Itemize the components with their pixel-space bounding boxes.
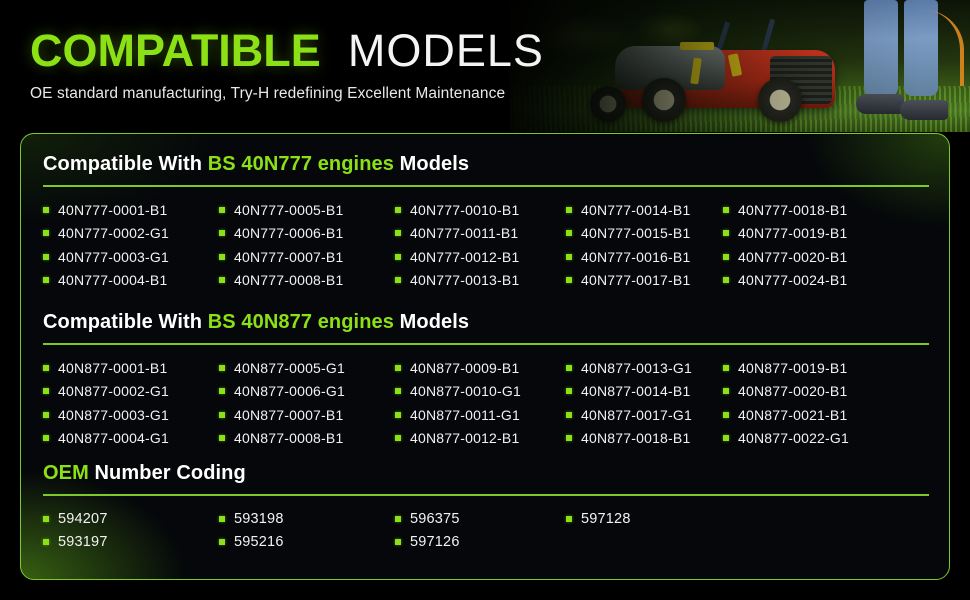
model-column: 40N777-0010-B1 40N777-0011-B1 40N777-001… bbox=[395, 198, 566, 292]
bullet-square-icon bbox=[395, 539, 401, 545]
list-item: 40N877-0014-B1 bbox=[566, 380, 723, 404]
model-column: 40N777-0018-B1 40N777-0019-B1 40N777-002… bbox=[723, 198, 898, 292]
bullet-square-icon bbox=[566, 412, 572, 418]
list-item: 40N777-0001-B1 bbox=[43, 198, 219, 222]
model-number: 40N877-0011-G1 bbox=[410, 407, 520, 423]
list-item: 40N777-0012-B1 bbox=[395, 245, 566, 269]
page-title-accent: COMPATIBLE bbox=[30, 25, 321, 76]
model-number: 40N777-0013-B1 bbox=[410, 272, 519, 288]
list-item: 40N877-0010-G1 bbox=[395, 380, 566, 404]
model-number: 40N877-0003-G1 bbox=[58, 407, 169, 423]
model-grid: 40N777-0001-B1 40N777-0002-G1 40N777-000… bbox=[43, 198, 929, 292]
bullet-square-icon bbox=[395, 365, 401, 371]
bullet-square-icon bbox=[566, 207, 572, 213]
hero-text-block: COMPATIBLE MODELS OE standard manufactur… bbox=[30, 28, 544, 103]
bullet-square-icon bbox=[723, 365, 729, 371]
section-divider bbox=[43, 494, 929, 496]
list-item: 593198 bbox=[219, 507, 395, 531]
bullet-square-icon bbox=[566, 230, 572, 236]
list-item: 40N877-0001-B1 bbox=[43, 356, 219, 380]
model-number: 40N777-0015-B1 bbox=[581, 225, 690, 241]
list-item: 593197 bbox=[43, 531, 219, 555]
bullet-square-icon bbox=[43, 254, 49, 260]
oem-column: 593198 595216 bbox=[219, 507, 395, 554]
section-heading-highlight: BS 40N877 engines bbox=[208, 311, 394, 333]
bullet-square-icon bbox=[43, 207, 49, 213]
bullet-square-icon bbox=[395, 412, 401, 418]
list-item: 40N877-0009-B1 bbox=[395, 356, 566, 380]
bullet-square-icon bbox=[219, 539, 225, 545]
list-item: 40N877-0018-B1 bbox=[566, 427, 723, 451]
model-number: 40N777-0010-B1 bbox=[410, 202, 519, 218]
bullet-square-icon bbox=[395, 230, 401, 236]
bullet-square-icon bbox=[219, 412, 225, 418]
oem-number: 594207 bbox=[58, 511, 108, 527]
oem-number: 596375 bbox=[410, 511, 460, 527]
list-item: 40N777-0006-B1 bbox=[219, 222, 395, 246]
list-item: 40N877-0008-B1 bbox=[219, 427, 395, 451]
model-column: 40N777-0014-B1 40N777-0015-B1 40N777-001… bbox=[566, 198, 723, 292]
list-item: 40N877-0019-B1 bbox=[723, 356, 898, 380]
list-item: 40N777-0013-B1 bbox=[395, 269, 566, 293]
page-title: COMPATIBLE MODELS bbox=[30, 28, 544, 73]
model-column: 40N777-0001-B1 40N777-0002-G1 40N777-000… bbox=[43, 198, 219, 292]
model-column: 40N877-0005-G1 40N877-0006-G1 40N877-000… bbox=[219, 356, 395, 450]
model-number: 40N777-0017-B1 bbox=[581, 272, 690, 288]
model-grid: 40N877-0001-B1 40N877-0002-G1 40N877-000… bbox=[43, 356, 929, 450]
model-number: 40N777-0006-B1 bbox=[234, 225, 343, 241]
list-item: 40N877-0007-B1 bbox=[219, 403, 395, 427]
list-item: 40N777-0003-G1 bbox=[43, 245, 219, 269]
oem-column-empty bbox=[723, 507, 898, 554]
section-divider bbox=[43, 343, 929, 345]
bullet-square-icon bbox=[43, 388, 49, 394]
bullet-square-icon bbox=[43, 435, 49, 441]
section-heading-post: Models bbox=[394, 153, 469, 175]
list-item: 40N777-0002-G1 bbox=[43, 222, 219, 246]
oem-column: 594207 593197 bbox=[43, 507, 219, 554]
section-40n877: Compatible With BS 40N877 engines Models… bbox=[21, 311, 950, 450]
bullet-square-icon bbox=[43, 365, 49, 371]
bullet-square-icon bbox=[219, 254, 225, 260]
model-number: 40N877-0005-G1 bbox=[234, 360, 345, 376]
model-number: 40N777-0004-B1 bbox=[58, 272, 167, 288]
list-item: 40N877-0012-B1 bbox=[395, 427, 566, 451]
page-subtitle: OE standard manufacturing, Try-H redefin… bbox=[30, 85, 544, 103]
list-item: 40N777-0011-B1 bbox=[395, 222, 566, 246]
bullet-square-icon bbox=[395, 254, 401, 260]
list-item: 40N777-0019-B1 bbox=[723, 222, 898, 246]
oem-number: 597128 bbox=[581, 511, 631, 527]
model-number: 40N877-0012-B1 bbox=[410, 430, 519, 446]
section-heading-pre: Compatible With bbox=[43, 153, 208, 175]
model-number: 40N877-0010-G1 bbox=[410, 383, 521, 399]
oem-number: 593198 bbox=[234, 511, 284, 527]
list-item: 596375 bbox=[395, 507, 566, 531]
list-item: 40N777-0017-B1 bbox=[566, 269, 723, 293]
section-heading: Compatible With BS 40N877 engines Models bbox=[43, 311, 929, 334]
bullet-square-icon bbox=[395, 388, 401, 394]
bullet-square-icon bbox=[723, 207, 729, 213]
model-number: 40N777-0012-B1 bbox=[410, 249, 519, 265]
bullet-square-icon bbox=[723, 388, 729, 394]
bullet-square-icon bbox=[219, 365, 225, 371]
bullet-square-icon bbox=[395, 516, 401, 522]
bullet-square-icon bbox=[395, 277, 401, 283]
model-number: 40N777-0011-B1 bbox=[410, 225, 518, 241]
bullet-square-icon bbox=[43, 516, 49, 522]
list-item: 40N777-0004-B1 bbox=[43, 269, 219, 293]
list-item: 40N777-0010-B1 bbox=[395, 198, 566, 222]
bullet-square-icon bbox=[219, 230, 225, 236]
oem-number: 595216 bbox=[234, 534, 284, 550]
model-column: 40N877-0001-B1 40N877-0002-G1 40N877-000… bbox=[43, 356, 219, 450]
list-item: 40N877-0003-G1 bbox=[43, 403, 219, 427]
bullet-square-icon bbox=[566, 516, 572, 522]
list-item: 40N777-0015-B1 bbox=[566, 222, 723, 246]
list-item: 40N877-0002-G1 bbox=[43, 380, 219, 404]
model-number: 40N777-0014-B1 bbox=[581, 202, 690, 218]
model-number: 40N777-0024-B1 bbox=[738, 272, 847, 288]
model-number: 40N877-0014-B1 bbox=[581, 383, 690, 399]
page-title-plain: MODELS bbox=[348, 25, 544, 76]
model-number: 40N777-0001-B1 bbox=[58, 202, 167, 218]
bullet-square-icon bbox=[43, 539, 49, 545]
bullet-square-icon bbox=[43, 412, 49, 418]
oem-column: 597128 bbox=[566, 507, 723, 554]
bullet-square-icon bbox=[723, 254, 729, 260]
list-item: 40N877-0020-B1 bbox=[723, 380, 898, 404]
section-heading-post: Models bbox=[394, 311, 469, 333]
model-number: 40N777-0020-B1 bbox=[738, 249, 847, 265]
list-item: 40N777-0018-B1 bbox=[723, 198, 898, 222]
model-number: 40N877-0020-B1 bbox=[738, 383, 847, 399]
model-column: 40N877-0019-B1 40N877-0020-B1 40N877-002… bbox=[723, 356, 898, 450]
model-number: 40N777-0005-B1 bbox=[234, 202, 343, 218]
bullet-square-icon bbox=[395, 435, 401, 441]
model-number: 40N777-0016-B1 bbox=[581, 249, 690, 265]
list-item: 40N777-0014-B1 bbox=[566, 198, 723, 222]
model-number: 40N877-0008-B1 bbox=[234, 430, 343, 446]
model-number: 40N877-0004-G1 bbox=[58, 430, 169, 446]
model-number: 40N877-0019-B1 bbox=[738, 360, 847, 376]
section-heading-pre: Compatible With bbox=[43, 311, 208, 333]
section-oem-numbers: OEM Number Coding 594207 593197 593198 5… bbox=[21, 462, 950, 554]
oem-grid: 594207 593197 593198 595216 596375 59712… bbox=[43, 507, 929, 554]
model-number: 40N877-0017-G1 bbox=[581, 407, 692, 423]
bullet-square-icon bbox=[566, 254, 572, 260]
list-item: 40N777-0020-B1 bbox=[723, 245, 898, 269]
model-number: 40N777-0003-G1 bbox=[58, 249, 169, 265]
model-number: 40N877-0006-G1 bbox=[234, 383, 345, 399]
section-heading: Compatible With BS 40N777 engines Models bbox=[43, 153, 929, 176]
model-column: 40N777-0005-B1 40N777-0006-B1 40N777-000… bbox=[219, 198, 395, 292]
hero-banner: COMPATIBLE MODELS OE standard manufactur… bbox=[0, 0, 970, 132]
list-item: 40N877-0011-G1 bbox=[395, 403, 566, 427]
bullet-square-icon bbox=[219, 516, 225, 522]
list-item: 40N777-0024-B1 bbox=[723, 269, 898, 293]
list-item: 40N777-0007-B1 bbox=[219, 245, 395, 269]
list-item: 40N877-0005-G1 bbox=[219, 356, 395, 380]
bullet-square-icon bbox=[43, 277, 49, 283]
model-number: 40N777-0008-B1 bbox=[234, 272, 343, 288]
section-heading-highlight: BS 40N777 engines bbox=[208, 153, 394, 175]
compatibility-card: Compatible With BS 40N777 engines Models… bbox=[20, 133, 950, 580]
list-item: 40N877-0017-G1 bbox=[566, 403, 723, 427]
oem-column: 596375 597126 bbox=[395, 507, 566, 554]
bullet-square-icon bbox=[723, 230, 729, 236]
model-number: 40N877-0007-B1 bbox=[234, 407, 343, 423]
section-heading-post: Number Coding bbox=[89, 462, 246, 484]
list-item: 40N877-0006-G1 bbox=[219, 380, 395, 404]
list-item: 595216 bbox=[219, 531, 395, 555]
oem-number: 593197 bbox=[58, 534, 108, 550]
bullet-square-icon bbox=[395, 207, 401, 213]
bullet-square-icon bbox=[219, 388, 225, 394]
model-number: 40N777-0002-G1 bbox=[58, 225, 169, 241]
model-number: 40N877-0021-B1 bbox=[738, 407, 847, 423]
model-number: 40N877-0013-G1 bbox=[581, 360, 692, 376]
model-column: 40N877-0009-B1 40N877-0010-G1 40N877-001… bbox=[395, 356, 566, 450]
section-40n777: Compatible With BS 40N777 engines Models… bbox=[21, 153, 950, 292]
bullet-square-icon bbox=[219, 207, 225, 213]
bullet-square-icon bbox=[723, 412, 729, 418]
list-item: 40N877-0022-G1 bbox=[723, 427, 898, 451]
bullet-square-icon bbox=[43, 230, 49, 236]
section-heading: OEM Number Coding bbox=[43, 462, 929, 485]
model-number: 40N777-0007-B1 bbox=[234, 249, 343, 265]
list-item: 40N777-0008-B1 bbox=[219, 269, 395, 293]
bullet-square-icon bbox=[566, 435, 572, 441]
bullet-square-icon bbox=[566, 277, 572, 283]
model-number: 40N877-0022-G1 bbox=[738, 430, 849, 446]
section-heading-highlight: OEM bbox=[43, 462, 89, 484]
model-number: 40N777-0018-B1 bbox=[738, 202, 847, 218]
model-number: 40N877-0018-B1 bbox=[581, 430, 690, 446]
list-item: 40N877-0004-G1 bbox=[43, 427, 219, 451]
list-item: 40N777-0005-B1 bbox=[219, 198, 395, 222]
list-item: 40N877-0013-G1 bbox=[566, 356, 723, 380]
list-item: 594207 bbox=[43, 507, 219, 531]
list-item: 40N877-0021-B1 bbox=[723, 403, 898, 427]
list-item: 597126 bbox=[395, 531, 566, 555]
bullet-square-icon bbox=[219, 277, 225, 283]
list-item: 40N777-0016-B1 bbox=[566, 245, 723, 269]
model-number: 40N877-0002-G1 bbox=[58, 383, 169, 399]
oem-number: 597126 bbox=[410, 534, 460, 550]
bullet-square-icon bbox=[566, 388, 572, 394]
list-item: 597128 bbox=[566, 507, 723, 531]
model-number: 40N877-0009-B1 bbox=[410, 360, 519, 376]
bullet-square-icon bbox=[219, 435, 225, 441]
model-column: 40N877-0013-G1 40N877-0014-B1 40N877-001… bbox=[566, 356, 723, 450]
model-number: 40N777-0019-B1 bbox=[738, 225, 847, 241]
bullet-square-icon bbox=[723, 435, 729, 441]
bullet-square-icon bbox=[566, 365, 572, 371]
section-divider bbox=[43, 185, 929, 187]
model-number: 40N877-0001-B1 bbox=[58, 360, 167, 376]
bullet-square-icon bbox=[723, 277, 729, 283]
